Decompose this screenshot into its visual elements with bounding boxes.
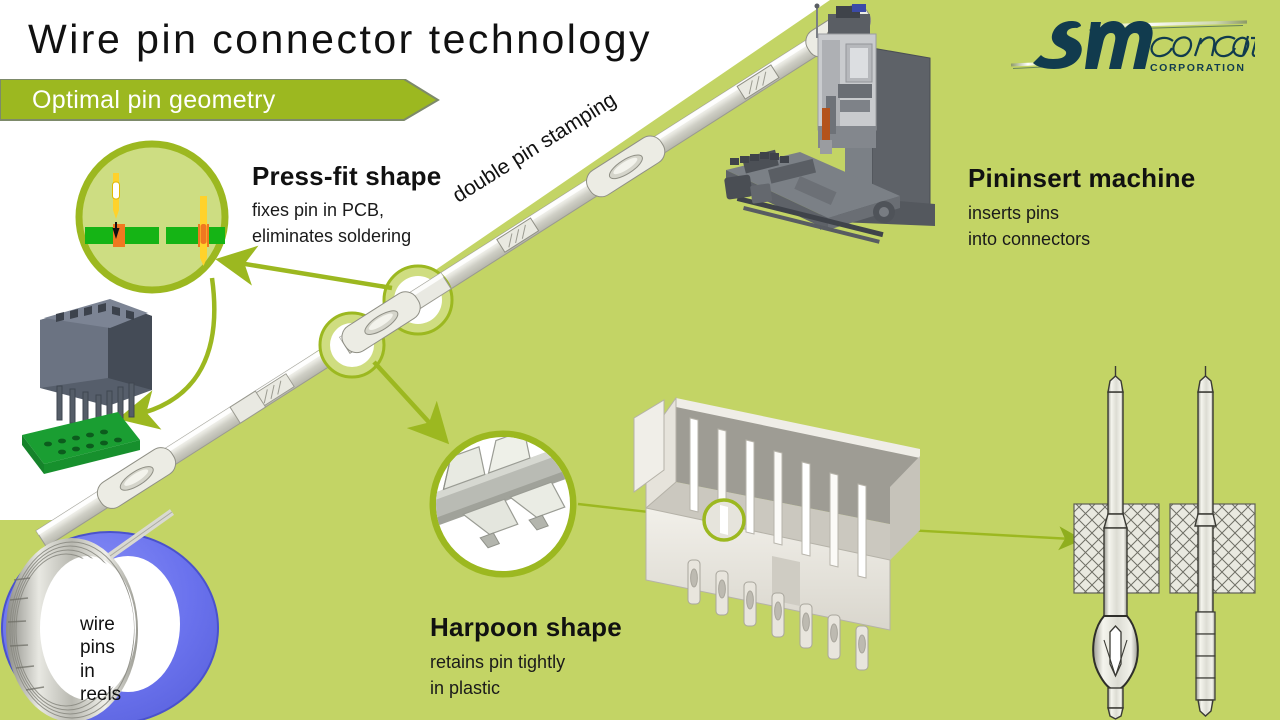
harpoon-body-line2: in plastic [430,676,565,702]
pininsert-heading: Pininsert machine [968,163,1195,194]
pressfit-body-line1: fixes pin in PCB, [252,198,411,224]
pininsert-body-line1: inserts pins [968,201,1090,227]
pin-diagram-left [1074,366,1159,719]
pressfit-body-line2: eliminates soldering [252,224,411,250]
harpoon-body-line1: retains pin tightly [430,650,565,676]
harpoon-heading: Harpoon shape [430,612,622,643]
pininsert-body-line2: into connectors [968,227,1090,253]
pressfit-heading: Press-fit shape [252,161,441,192]
pressfit-body: fixes pin in PCB, eliminates soldering [252,198,411,249]
pin-diagram-right [1170,366,1255,716]
harpoon-body: retains pin tightly in plastic [430,650,565,701]
slide-canvas: Wire pin connector technology Optimal pi… [0,0,1280,720]
pin-cross-section-diagrams [0,0,1280,720]
pininsert-body: inserts pins into connectors [968,201,1090,252]
